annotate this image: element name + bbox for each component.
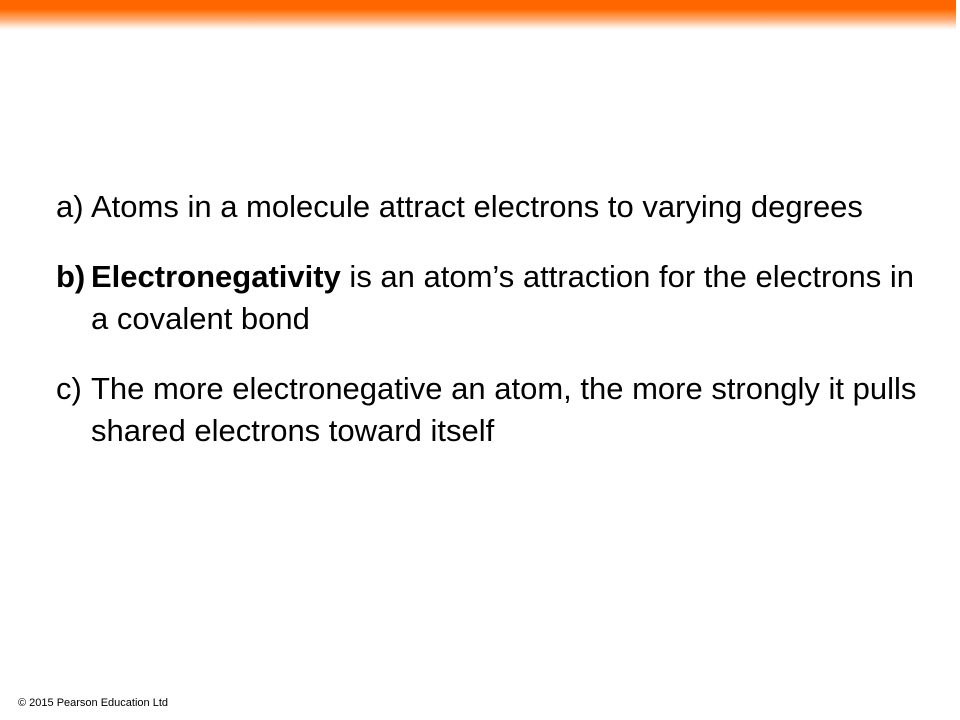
list-item-text: The more electronegative an atom, the mo… — [91, 368, 918, 452]
slide-canvas: a) Atoms in a molecule attract electrons… — [0, 0, 960, 720]
list-item-text: Electronegativity is an atom’s attractio… — [91, 256, 918, 340]
list-item-marker: c) — [56, 368, 91, 410]
copyright-footer: © 2015 Pearson Education Ltd — [18, 696, 168, 710]
list-item-marker: b) — [56, 256, 91, 298]
bullet-list: a) Atoms in a molecule attract electrons… — [56, 186, 918, 452]
orange-gradient-band — [0, 0, 956, 30]
list-item-marker: a) — [56, 186, 91, 228]
list-item: b) Electronegativity is an atom’s attrac… — [56, 256, 918, 340]
banner-gradient-fade — [0, 9, 956, 30]
list-item: a) Atoms in a molecule attract electrons… — [56, 186, 918, 228]
banner-solid-stripe — [0, 0, 956, 9]
list-item-body: Atoms in a molecule attract electrons to… — [91, 189, 863, 224]
list-item: c) The more electronegative an atom, the… — [56, 368, 918, 452]
list-item-body: The more electronegative an atom, the mo… — [91, 371, 916, 448]
list-item-bold-lead: Electronegativity — [91, 259, 341, 294]
list-item-text: Atoms in a molecule attract electrons to… — [91, 186, 918, 228]
